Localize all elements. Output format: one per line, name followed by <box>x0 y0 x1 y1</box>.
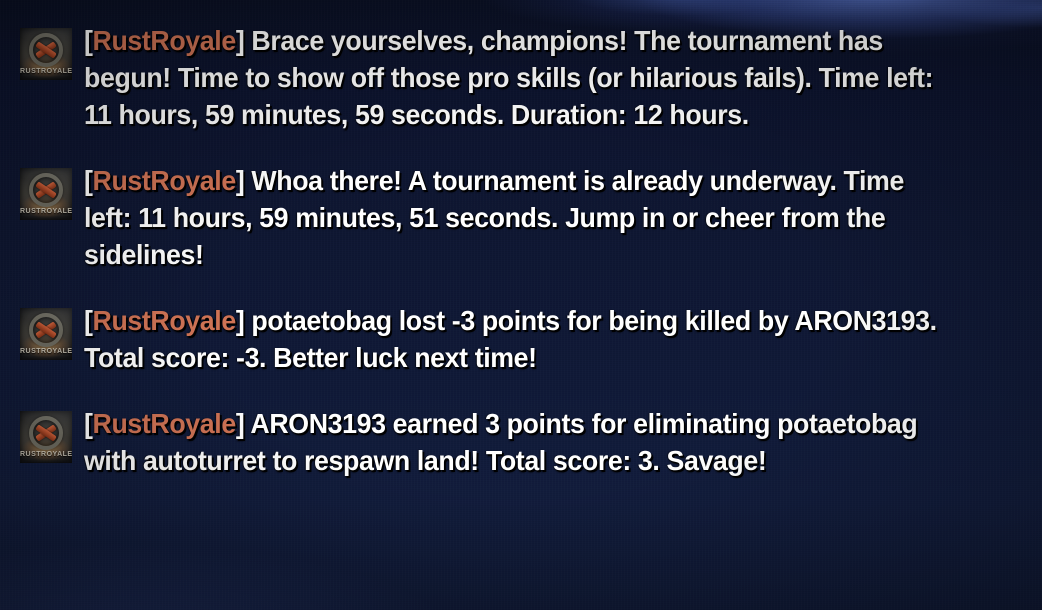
rustroyale-emblem-icon: RUSTROYALE <box>20 411 72 463</box>
rustroyale-emblem-icon: RUSTROYALE <box>20 28 72 80</box>
emblem-sheen <box>20 168 72 220</box>
chat-message-text: [RustRoyale] Whoa there! A tournament is… <box>84 162 955 273</box>
emblem-sheen <box>20 28 72 80</box>
emblem-sheen <box>20 308 72 360</box>
game-chat-overlay-scene: RUSTROYALE [RustRoyale] Brace yourselves… <box>0 0 1042 610</box>
plugin-tag: RustRoyale <box>93 25 236 56</box>
rustroyale-emblem-icon: RUSTROYALE <box>20 168 72 220</box>
rustroyale-emblem-icon: RUSTROYALE <box>20 308 72 360</box>
chat-message-text: [RustRoyale] ARON3193 earned 3 points fo… <box>84 405 955 479</box>
chat-log: RUSTROYALE [RustRoyale] Brace yourselves… <box>0 0 1042 508</box>
chat-message: RUSTROYALE [RustRoyale] Whoa there! A to… <box>20 162 1022 273</box>
bracket-open: [ <box>84 165 93 196</box>
chat-message: RUSTROYALE [RustRoyale] potaetobag lost … <box>20 302 1022 376</box>
chat-message-text: [RustRoyale] potaetobag lost -3 points f… <box>84 302 955 376</box>
chat-message: RUSTROYALE [RustRoyale] ARON3193 earned … <box>20 405 1022 479</box>
bracket-close: ] <box>236 305 245 336</box>
chat-message-text: [RustRoyale] Brace yourselves, champions… <box>84 22 955 133</box>
bracket-open: [ <box>84 305 93 336</box>
plugin-tag: RustRoyale <box>93 305 236 336</box>
plugin-tag: RustRoyale <box>93 165 236 196</box>
bracket-close: ] <box>236 25 245 56</box>
bracket-close: ] <box>236 165 245 196</box>
bracket-open: [ <box>84 408 93 439</box>
chat-message: RUSTROYALE [RustRoyale] Brace yourselves… <box>20 22 1022 133</box>
bracket-open: [ <box>84 25 93 56</box>
plugin-tag: RustRoyale <box>93 408 236 439</box>
bracket-close: ] <box>236 408 245 439</box>
emblem-sheen <box>20 411 72 463</box>
